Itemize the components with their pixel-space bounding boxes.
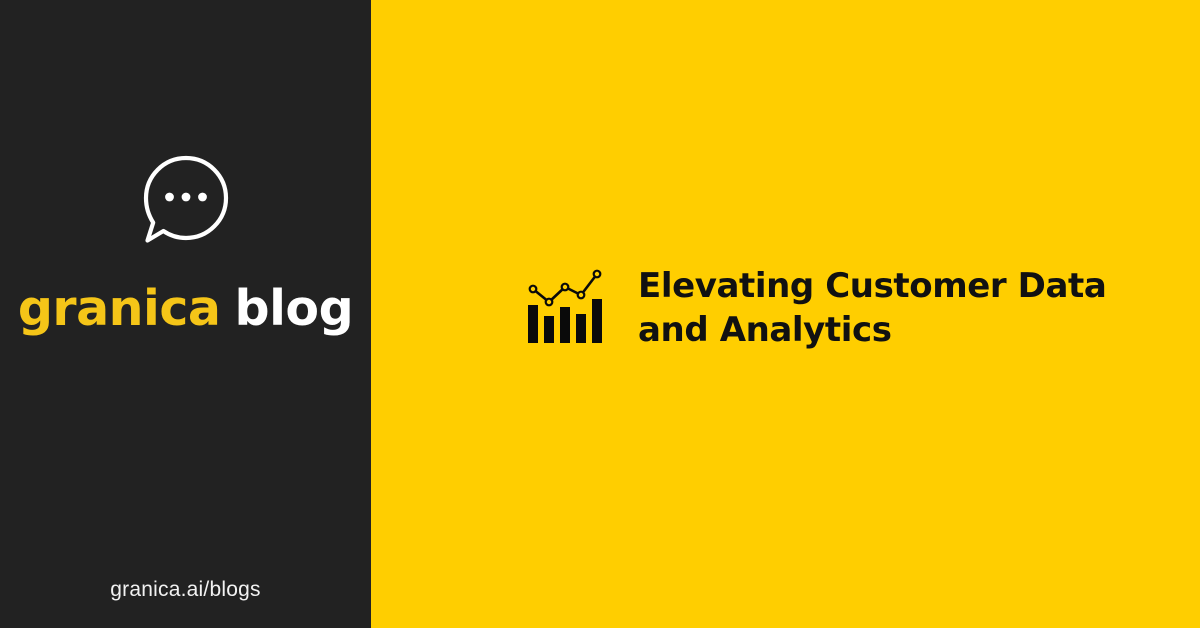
wordmark-granica: granica xyxy=(18,284,221,333)
wordmark-blog: blog xyxy=(235,284,354,333)
blog-share-card: granica blog granica.ai/blogs xyxy=(0,0,1200,628)
post-panel: Elevating Customer Data and Analytics xyxy=(371,0,1200,628)
bar-line-chart-icon xyxy=(524,265,604,347)
chat-bubble-icon xyxy=(140,152,232,248)
brand-stack: granica blog xyxy=(0,152,371,333)
post-title[interactable]: Elevating Customer Data and Analytics xyxy=(638,265,1108,352)
post-row: Elevating Customer Data and Analytics xyxy=(524,265,1140,352)
granica-blog-wordmark[interactable]: granica blog xyxy=(18,284,353,333)
site-url[interactable]: granica.ai/blogs xyxy=(0,578,371,602)
brand-panel: granica blog granica.ai/blogs xyxy=(0,0,371,628)
